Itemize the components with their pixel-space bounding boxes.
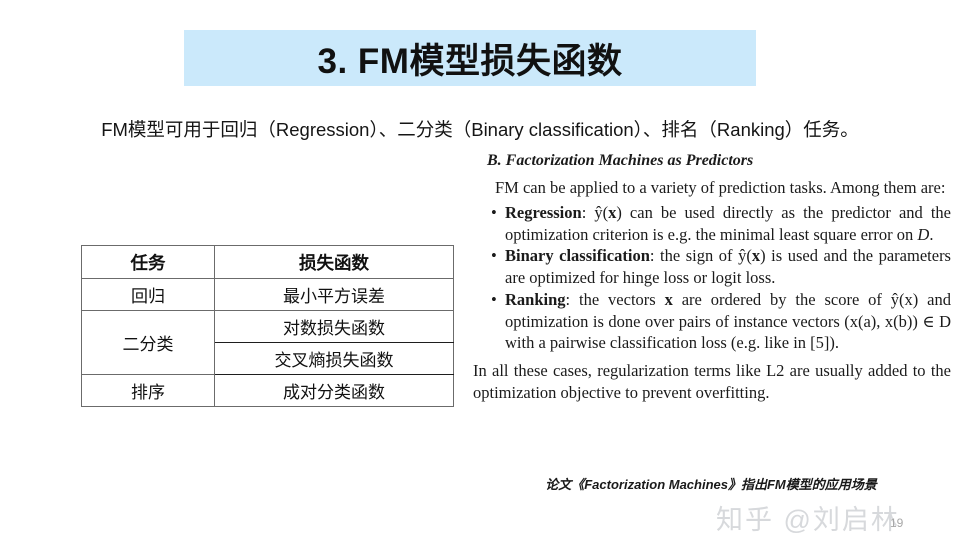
table-cell-task: 排序 — [82, 375, 215, 407]
paper-section-heading: B. Factorization Machines as Predictors — [487, 152, 957, 170]
table-cell-task: 回归 — [82, 279, 215, 311]
bullet-text: : ŷ( — [582, 203, 608, 222]
list-item: •Regression: ŷ(x) can be used directly a… — [505, 202, 951, 246]
page-title: 3. FM模型损失函数 — [184, 30, 756, 86]
bullet-text: . — [929, 225, 933, 244]
table-row: 二分类 对数损失函数 — [82, 311, 454, 343]
paper-bullet-list: •Regression: ŷ(x) can be used directly a… — [465, 202, 957, 354]
list-item: •Ranking: the vectors x are ordered by t… — [505, 289, 951, 354]
bullet-lead-label: Binary classification — [505, 246, 650, 265]
list-item: •Binary classification: the sign of ŷ(x)… — [505, 245, 951, 289]
bullet-text: : the sign of ŷ( — [650, 246, 752, 265]
table-header-row: 任务 损失函数 — [82, 246, 454, 279]
table-cell-task: 二分类 — [82, 311, 215, 375]
table-cell-loss: 成对分类函数 — [215, 375, 454, 407]
table-cell-loss: 对数损失函数 — [215, 311, 454, 343]
bullet-lead-label: Regression — [505, 203, 582, 222]
table-cell-loss: 交叉熵损失函数 — [215, 343, 454, 375]
bullet-dot-icon: • — [491, 289, 497, 311]
table-header-task: 任务 — [82, 246, 215, 279]
bullet-vector-symbol: x — [752, 246, 760, 265]
bullet-text: : the vectors — [566, 290, 665, 309]
table-row: 回归 最小平方误差 — [82, 279, 454, 311]
bullet-lead-label: Ranking — [505, 290, 566, 309]
paper-excerpt-figure: B. Factorization Machines as Predictors … — [465, 152, 957, 407]
bullet-dot-icon: • — [491, 245, 497, 267]
table-row: 排序 成对分类函数 — [82, 375, 454, 407]
table-cell-loss: 最小平方误差 — [215, 279, 454, 311]
bullet-vector-symbol: x — [665, 290, 673, 309]
watermark: 知乎 @刘启林 — [716, 498, 900, 537]
loss-function-table: 任务 损失函数 回归 最小平方误差 二分类 对数损失函数 交叉熵损失函数 排序 … — [81, 245, 454, 407]
bullet-math-symbol: D — [917, 225, 929, 244]
bullet-dot-icon: • — [491, 202, 497, 224]
figure-caption: 论文《Factorization Machines》指出FM模型的应用场景 — [465, 474, 957, 493]
paper-intro-paragraph: FM can be applied to a variety of predic… — [473, 177, 951, 199]
table-header-loss: 损失函数 — [215, 246, 454, 279]
page-number: 19 — [890, 516, 903, 530]
paper-closing-paragraph: In all these cases, regularization terms… — [473, 360, 951, 404]
subtitle-text: FM模型可用于回归（Regression）、二分类（Binary classif… — [0, 116, 960, 142]
